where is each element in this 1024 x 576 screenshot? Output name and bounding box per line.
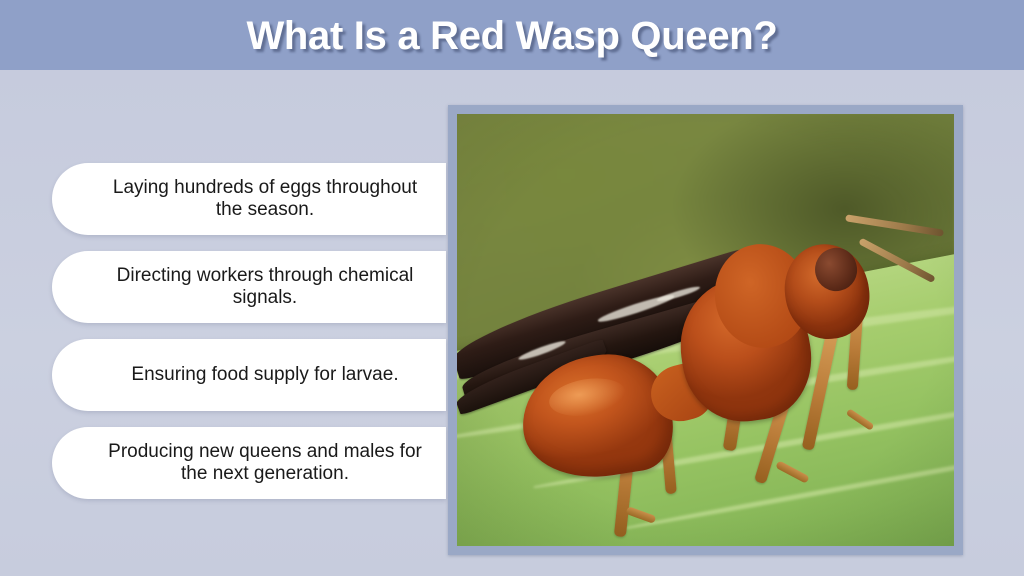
wasp-tarsus <box>775 461 809 484</box>
wasp-tarsus <box>626 507 657 524</box>
page-title: What Is a Red Wasp Queen? <box>246 16 777 56</box>
bullet-item[interactable]: Ensuring food supply for larvae. <box>52 339 446 411</box>
bullet-item[interactable]: Laying hundreds of eggs throughout the s… <box>52 163 446 235</box>
wasp-photo <box>457 114 954 546</box>
photo-frame <box>448 105 963 555</box>
bullet-item[interactable]: Producing new queens and males for the n… <box>52 427 446 499</box>
slide-header-band: What Is a Red Wasp Queen? <box>0 0 1024 70</box>
bullet-text: Directing workers through chemical signa… <box>100 265 430 310</box>
wasp-tarsus <box>845 409 874 432</box>
wasp-antenna <box>858 237 936 283</box>
bullet-text: Laying hundreds of eggs throughout the s… <box>100 177 430 222</box>
bullet-text: Ensuring food supply for larvae. <box>100 364 430 386</box>
bullet-list: Laying hundreds of eggs throughout the s… <box>52 163 446 515</box>
bullet-text: Producing new queens and males for the n… <box>100 441 430 486</box>
wasp-antenna <box>845 214 944 237</box>
slide-root: What Is a Red Wasp Queen? Laying hundred… <box>0 0 1024 576</box>
wasp-body <box>457 114 954 546</box>
bullet-item[interactable]: Directing workers through chemical signa… <box>52 251 446 323</box>
abdomen-highlight <box>546 373 628 421</box>
